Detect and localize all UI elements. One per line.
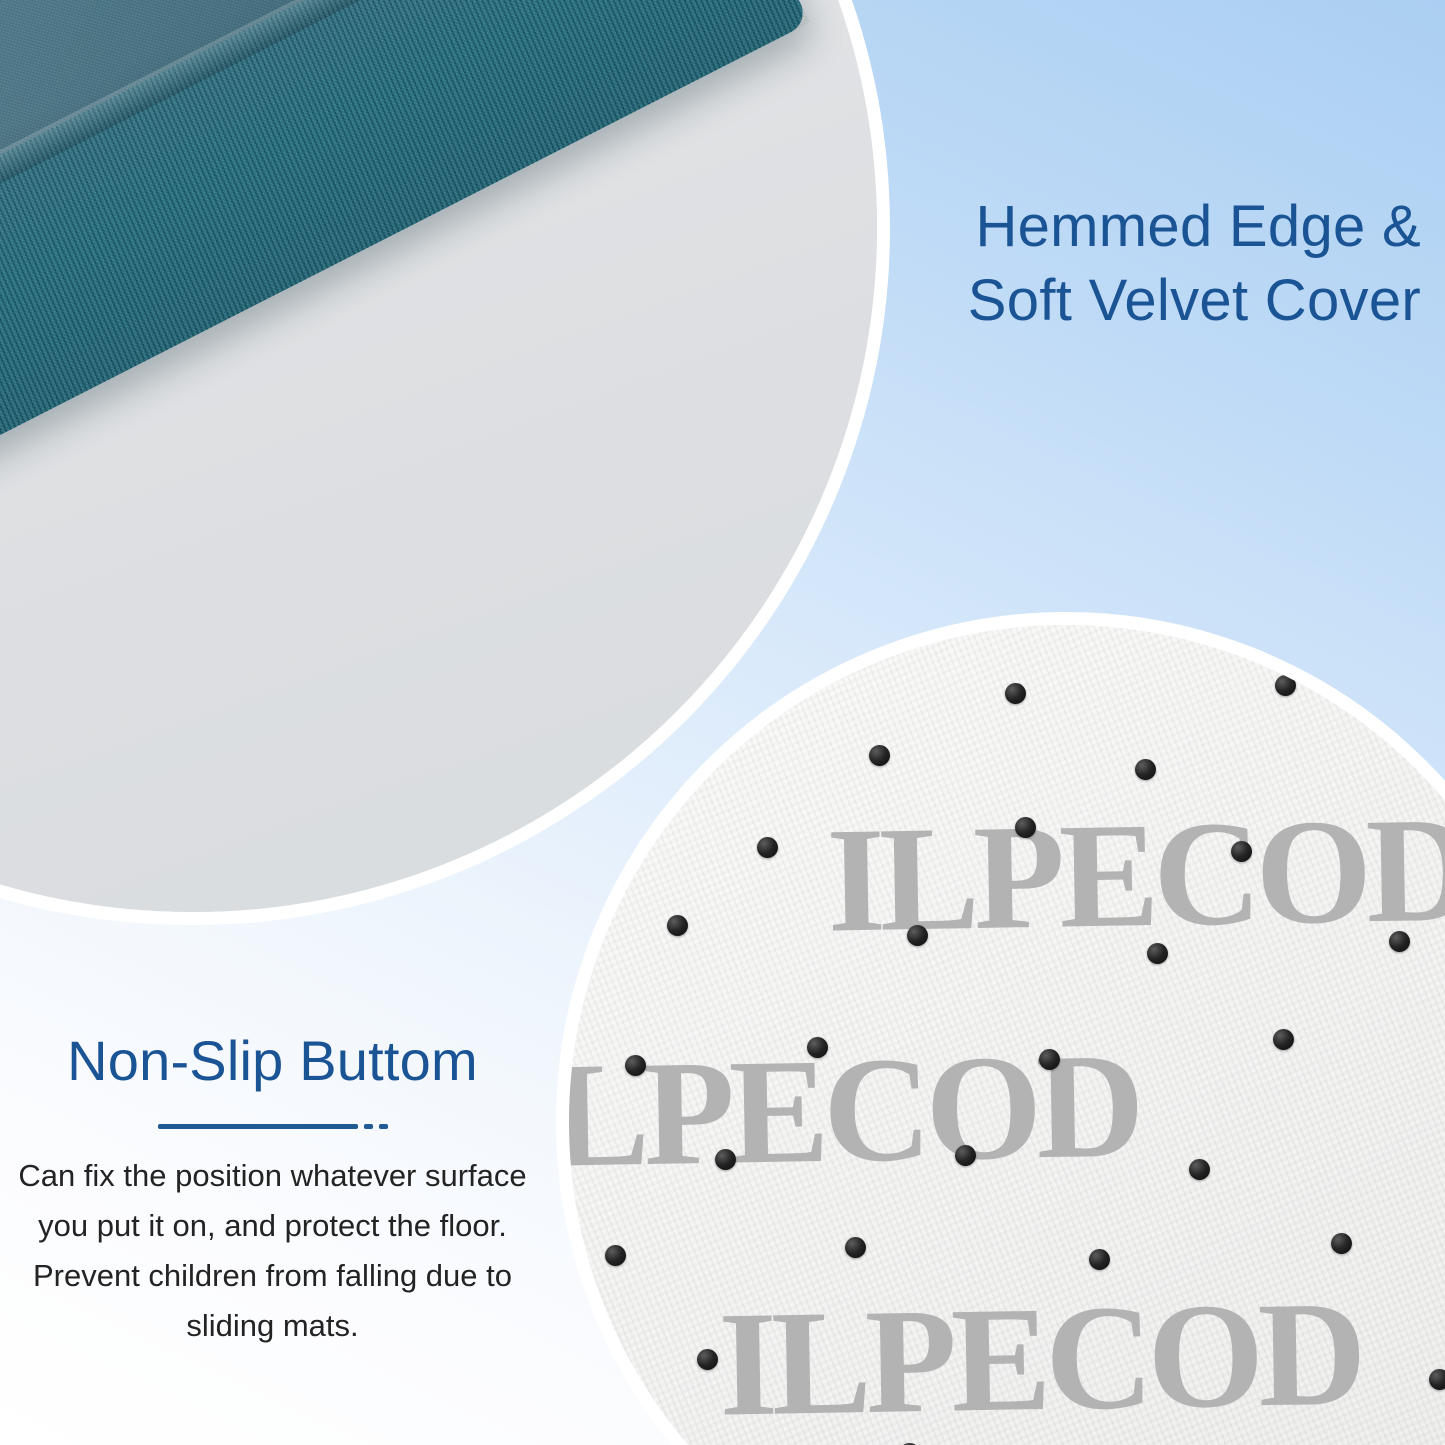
feature-body: Can fix the position whatever surface yo… [0,1151,545,1352]
grip-dot [807,1037,828,1058]
feature-block: Non-Slip Buttom Can fix the position wha… [0,1030,545,1351]
divider-dash [379,1124,388,1129]
grip-dot [697,1349,718,1370]
headline-line-1: Hemmed Edge & [968,190,1421,264]
grip-dot [1231,841,1252,862]
feature-body-line-1: Can fix the position whatever surface [0,1151,545,1201]
grip-dot [955,1145,976,1166]
grip-dot [1411,731,1432,752]
grip-dot [1005,683,1026,704]
grip-dot [1189,1159,1210,1180]
grip-dot [1089,1249,1110,1270]
grip-dot [1135,759,1156,780]
feature-body-line-4: sliding mats. [0,1301,545,1351]
non-slip-mat-photo-circle: ILPECOD ILPECOD ILPECOD [556,612,1445,1445]
feature-title: Non-Slip Buttom [0,1030,545,1092]
grip-dot [1389,931,1410,952]
divider-dash [364,1124,373,1129]
grip-dot [1273,1029,1294,1050]
feature-body-line-3: Prevent children from falling due to [0,1251,545,1301]
grip-dot [907,925,928,946]
grip-dot [1039,1049,1060,1070]
grip-dot [869,745,890,766]
grip-dot [1429,1369,1445,1390]
headline-line-2: Soft Velvet Cover [968,264,1421,338]
grip-dot [667,915,688,936]
grip-dot [625,1055,646,1076]
grip-dot [715,1149,736,1170]
feature-body-line-2: you put it on, and protect the floor. [0,1201,545,1251]
grip-dot [605,1245,626,1266]
grip-dot [1275,675,1296,696]
brand-watermark: ILPECOD [556,1019,1140,1202]
brand-watermark: ILPECOD [718,1267,1362,1445]
grip-dot [1147,943,1168,964]
divider-bar [158,1124,358,1129]
grip-dot [757,837,778,858]
product-infographic: ILPECOD ILPECOD ILPECOD [0,0,1445,1445]
grip-dot [845,1237,866,1258]
divider [0,1124,545,1129]
headline: Hemmed Edge & Soft Velvet Cover [968,190,1421,338]
grip-dot [1331,1233,1352,1254]
grip-dot [1015,817,1036,838]
